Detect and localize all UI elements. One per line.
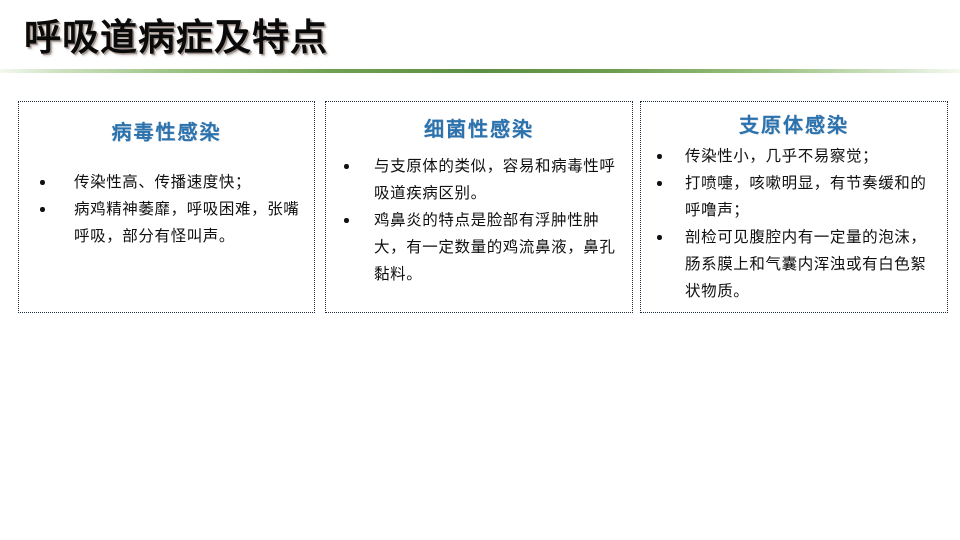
bullet-dot-icon bbox=[657, 181, 662, 186]
bullet-dot-icon bbox=[344, 164, 349, 169]
bullet-dot-icon bbox=[40, 180, 45, 185]
list-item: 传染性高、传播速度快； bbox=[19, 169, 314, 196]
bullet-dot-icon bbox=[657, 154, 662, 159]
title-underline-rule bbox=[0, 69, 960, 73]
list-item: 剖检可见腹腔内有一定量的泡沫，肠系膜上和气囊内浑浊或有白色絮状物质。 bbox=[641, 224, 947, 305]
bullet-list-virus: 传染性高、传播速度快； 病鸡精神萎靡，呼吸困难，张嘴呼吸，部分有怪叫声。 bbox=[19, 169, 314, 250]
bullet-dot-icon bbox=[344, 218, 349, 223]
page-title: 呼吸道病症及特点 bbox=[24, 16, 328, 60]
list-item-text: 打喷嚏，咳嗽明显，有节奏缓和的呼噜声； bbox=[685, 174, 927, 219]
box-heading-bacteria: 细菌性感染 bbox=[326, 116, 632, 142]
slide-canvas: 呼吸道病症及特点 病毒性感染 传染性高、传播速度快； 病鸡精神萎靡，呼吸困难，张… bbox=[0, 0, 960, 540]
list-item: 鸡鼻炎的特点是脸部有浮肿性肿大，有一定数量的鸡流鼻液，鼻孔黏料。 bbox=[326, 207, 632, 288]
bullet-dot-icon bbox=[40, 207, 45, 212]
list-item: 传染性小，几乎不易察觉； bbox=[641, 143, 947, 170]
content-box-mycoplasma: 支原体感染 传染性小，几乎不易察觉； 打喷嚏，咳嗽明显，有节奏缓和的呼噜声； 剖… bbox=[640, 101, 948, 313]
bullet-dot-icon bbox=[657, 235, 662, 240]
list-item-text: 传染性高、传播速度快； bbox=[74, 173, 251, 191]
list-item: 打喷嚏，咳嗽明显，有节奏缓和的呼噜声； bbox=[641, 170, 947, 224]
content-box-bacteria: 细菌性感染 与支原体的类似，容易和病毒性呼吸道疾病区别。 鸡鼻炎的特点是脸部有浮… bbox=[325, 101, 633, 313]
bullet-list-bacteria: 与支原体的类似，容易和病毒性呼吸道疾病区别。 鸡鼻炎的特点是脸部有浮肿性肿大，有… bbox=[326, 153, 632, 288]
list-item-text: 病鸡精神萎靡，呼吸困难，张嘴呼吸，部分有怪叫声。 bbox=[74, 200, 299, 245]
list-item-text: 剖检可见腹腔内有一定量的泡沫，肠系膜上和气囊内浑浊或有白色絮状物质。 bbox=[685, 228, 927, 300]
box-heading-virus: 病毒性感染 bbox=[19, 119, 314, 145]
list-item: 与支原体的类似，容易和病毒性呼吸道疾病区别。 bbox=[326, 153, 632, 207]
bullet-list-mycoplasma: 传染性小，几乎不易察觉； 打喷嚏，咳嗽明显，有节奏缓和的呼噜声； 剖检可见腹腔内… bbox=[641, 143, 947, 305]
title-block: 呼吸道病症及特点 bbox=[0, 0, 960, 76]
list-item-text: 传染性小，几乎不易察觉； bbox=[685, 147, 878, 165]
content-box-virus: 病毒性感染 传染性高、传播速度快； 病鸡精神萎靡，呼吸困难，张嘴呼吸，部分有怪叫… bbox=[18, 101, 315, 313]
box-heading-mycoplasma: 支原体感染 bbox=[641, 112, 947, 138]
list-item-text: 与支原体的类似，容易和病毒性呼吸道疾病区别。 bbox=[374, 157, 616, 202]
list-item-text: 鸡鼻炎的特点是脸部有浮肿性肿大，有一定数量的鸡流鼻液，鼻孔黏料。 bbox=[374, 211, 616, 283]
list-item: 病鸡精神萎靡，呼吸困难，张嘴呼吸，部分有怪叫声。 bbox=[19, 196, 314, 250]
